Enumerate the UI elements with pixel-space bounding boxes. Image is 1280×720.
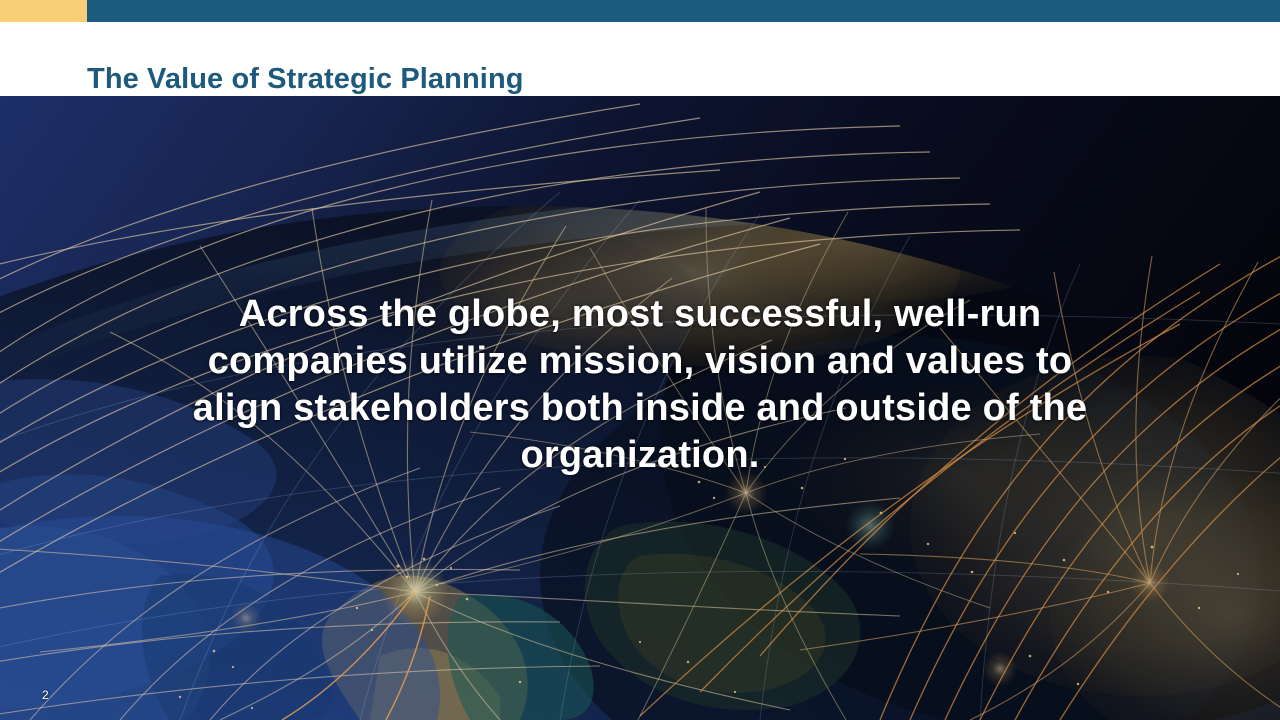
top-accent-bar	[0, 0, 1280, 22]
top-accent-bar-gold	[0, 0, 87, 22]
title-band: The Value of Strategic Planning	[0, 22, 1280, 96]
slide-number: 2	[42, 688, 49, 702]
top-accent-bar-blue	[87, 0, 1280, 22]
presentation-slide: The Value of Strategic Planning	[0, 0, 1280, 720]
background-image-globe-network: Across the globe, most successful, well-…	[0, 96, 1280, 720]
page-title: The Value of Strategic Planning	[87, 65, 524, 94]
slide-body-text: Across the globe, most successful, well-…	[160, 291, 1120, 479]
